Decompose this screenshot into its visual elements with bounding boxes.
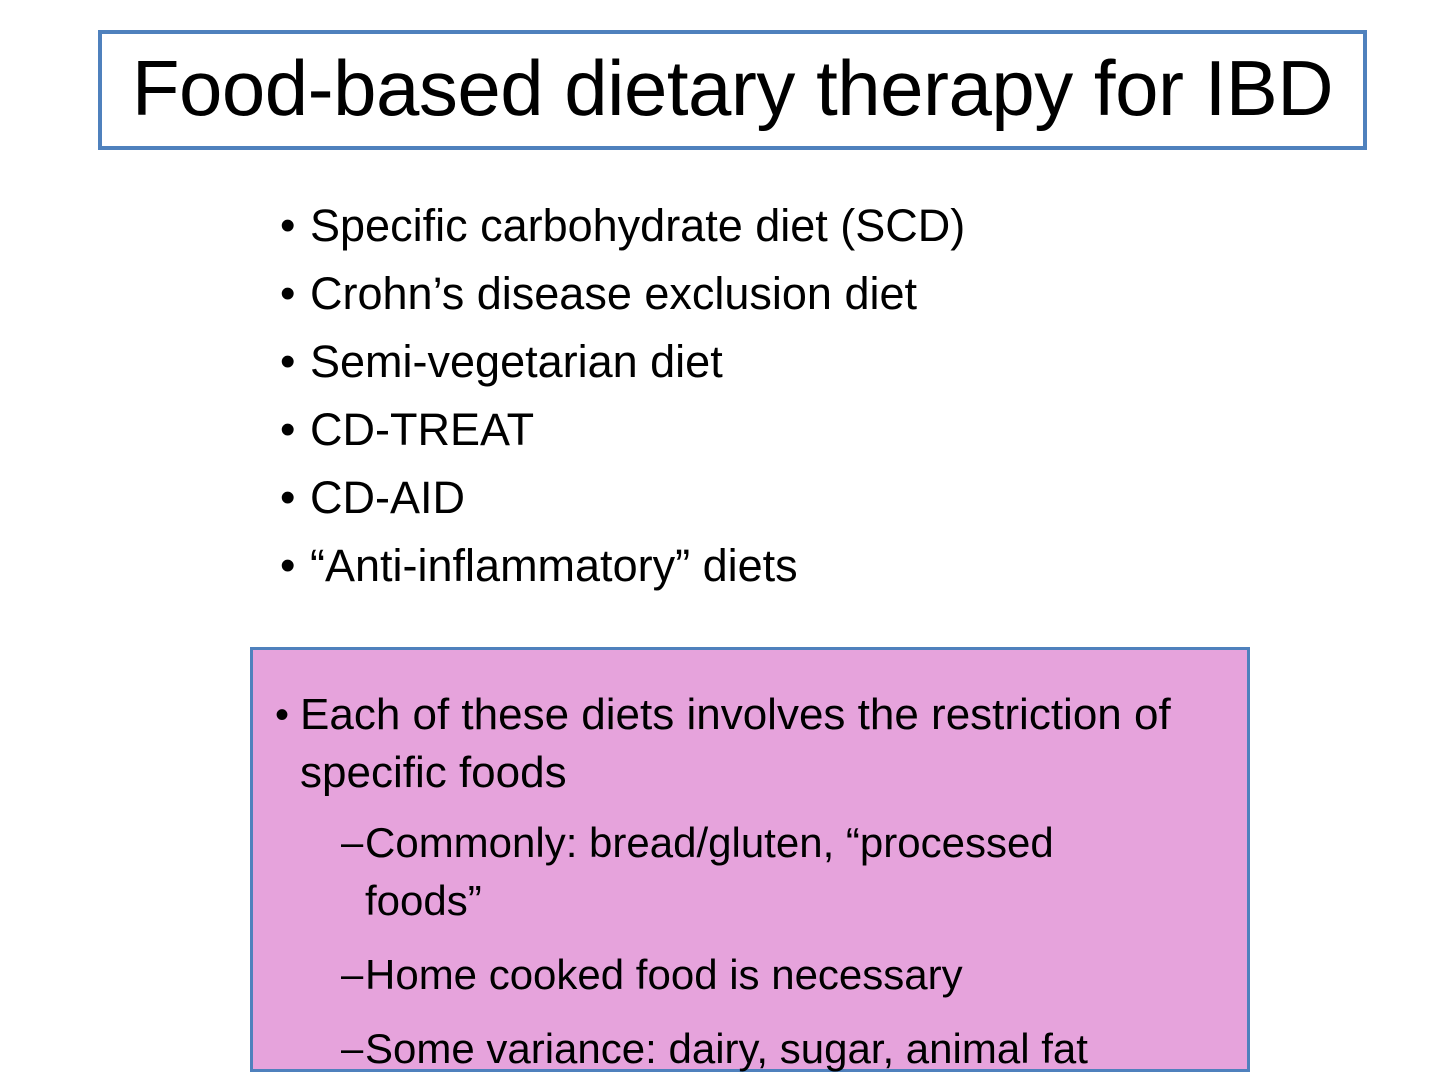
list-item: • CD-AID bbox=[262, 468, 1262, 536]
list-item-label: “Anti-inflammatory” diets bbox=[310, 536, 798, 596]
list-item: • Semi-vegetarian diet bbox=[262, 332, 1262, 400]
list-item-label: CD-TREAT bbox=[310, 400, 534, 460]
list-item-label: Crohn’s disease exclusion diet bbox=[310, 264, 917, 324]
callout-sub-item: – Home cooked food is necessary bbox=[253, 946, 1247, 1004]
callout-sub-item: – Commonly: bread/gluten, “processed foo… bbox=[253, 814, 1247, 930]
list-item: • Specific carbohydrate diet (SCD) bbox=[262, 196, 1262, 264]
callout-sub-item: – Some variance: dairy, sugar, animal fa… bbox=[253, 1020, 1247, 1078]
callout-sub-label: Commonly: bread/gluten, “processed foods… bbox=[365, 814, 1165, 930]
list-item: • “Anti-inflammatory” diets bbox=[262, 536, 1262, 604]
bullet-icon: • bbox=[262, 264, 310, 324]
page-title: Food-based dietary therapy for IBD bbox=[132, 49, 1333, 127]
bullet-icon: • bbox=[262, 536, 310, 596]
dash-icon: – bbox=[253, 814, 365, 872]
callout-main-item: • Each of these diets involves the restr… bbox=[253, 686, 1247, 802]
title-box: Food-based dietary therapy for IBD bbox=[98, 30, 1367, 150]
bullet-icon: • bbox=[262, 196, 310, 256]
bullet-icon: • bbox=[262, 468, 310, 528]
list-item: • Crohn’s disease exclusion diet bbox=[262, 264, 1262, 332]
diet-list: • Specific carbohydrate diet (SCD) • Cro… bbox=[262, 196, 1262, 604]
callout-box: • Each of these diets involves the restr… bbox=[250, 647, 1250, 1072]
bullet-icon: • bbox=[262, 332, 310, 392]
callout-main-label: Each of these diets involves the restric… bbox=[300, 686, 1180, 802]
callout-sub-label: Home cooked food is necessary bbox=[365, 946, 1165, 1004]
dash-icon: – bbox=[253, 946, 365, 1004]
bullet-icon: • bbox=[262, 400, 310, 460]
bullet-icon: • bbox=[253, 686, 300, 744]
callout-sub-label: Some variance: dairy, sugar, animal fat bbox=[365, 1020, 1165, 1078]
list-item-label: Specific carbohydrate diet (SCD) bbox=[310, 196, 965, 256]
list-item-label: CD-AID bbox=[310, 468, 465, 528]
slide-canvas: Food-based dietary therapy for IBD • Spe… bbox=[0, 0, 1432, 1075]
dash-icon: – bbox=[253, 1020, 365, 1078]
list-item-label: Semi-vegetarian diet bbox=[310, 332, 723, 392]
list-item: • CD-TREAT bbox=[262, 400, 1262, 468]
